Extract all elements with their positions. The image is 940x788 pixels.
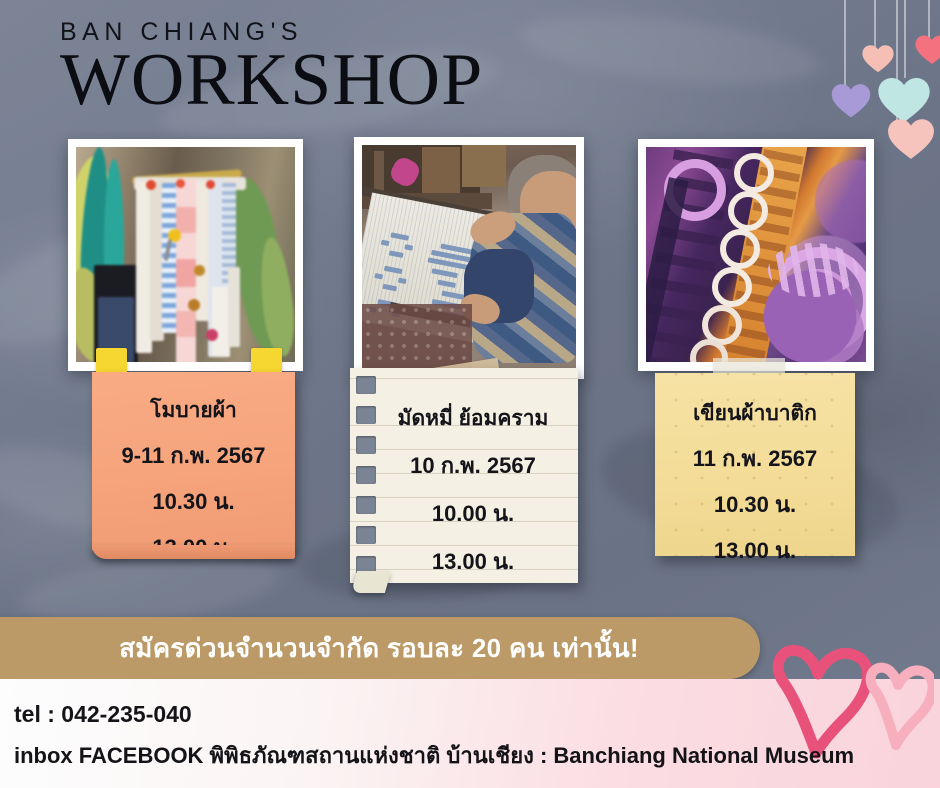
heart-string [904,0,906,78]
notepad-curl [351,571,391,593]
photo-batik-cloth [638,139,874,371]
heart-purple-icon [830,80,872,120]
card-mobile-pha: โมบายผ้า 9-11 ก.พ. 2567 10.30 น. 13.00 น… [92,372,295,550]
card-date: 10 ก.พ. 2567 [368,448,578,483]
registration-banner: สมัครด่วนจำนวนจำกัด รอบละ 20 คน เท่านั้น… [0,617,760,679]
card-time-afternoon: 13.00 น. [655,533,855,568]
card-date: 11 ก.พ. 2567 [655,441,855,476]
heart-string [844,0,846,88]
contact-facebook: inbox FACEBOOK พิพิธภัณฑสถานแห่งชาติ บ้า… [14,738,854,773]
heart-string [874,0,876,48]
card-time-morning: 10.30 น. [92,484,295,519]
poster-header: BAN CHIANG'S WORKSHOP [60,18,483,116]
card-title: มัดหมี่ ย้อมคราม [368,368,578,435]
poster: BAN CHIANG'S WORKSHOP [0,0,940,788]
photo-fabric-mobile [68,139,303,371]
card-time-afternoon: 13.00 น. [368,544,578,579]
card-time-morning: 10.00 น. [368,496,578,531]
heart-blush-icon [886,114,936,162]
card-batik-painting: เขียนผ้าบาติก 11 ก.พ. 2567 10.30 น. 13.0… [655,373,855,556]
card-mudmee-indigo: มัดหมี่ ย้อมคราม 10 ก.พ. 2567 10.00 น. 1… [350,368,578,583]
photo-loom-weaving [354,137,584,379]
card-title: โมบายผ้า [92,372,295,427]
contact-footer: tel : 042-235-040 inbox FACEBOOK พิพิธภั… [0,679,940,788]
card-date: 9-11 ก.พ. 2567 [92,438,295,473]
heart-rose-icon [914,32,940,66]
sticky-note-peel [92,545,295,559]
page-title: WORKSHOP [60,45,483,116]
card-time-morning: 10.30 น. [655,487,855,522]
card-title: เขียนผ้าบาติก [655,373,855,430]
heart-pink-icon [861,42,895,74]
banner-text: สมัครด่วนจำนวนจำกัด รอบละ 20 คน เท่านั้น… [103,628,639,669]
contact-tel: tel : 042-235-040 [14,701,192,728]
